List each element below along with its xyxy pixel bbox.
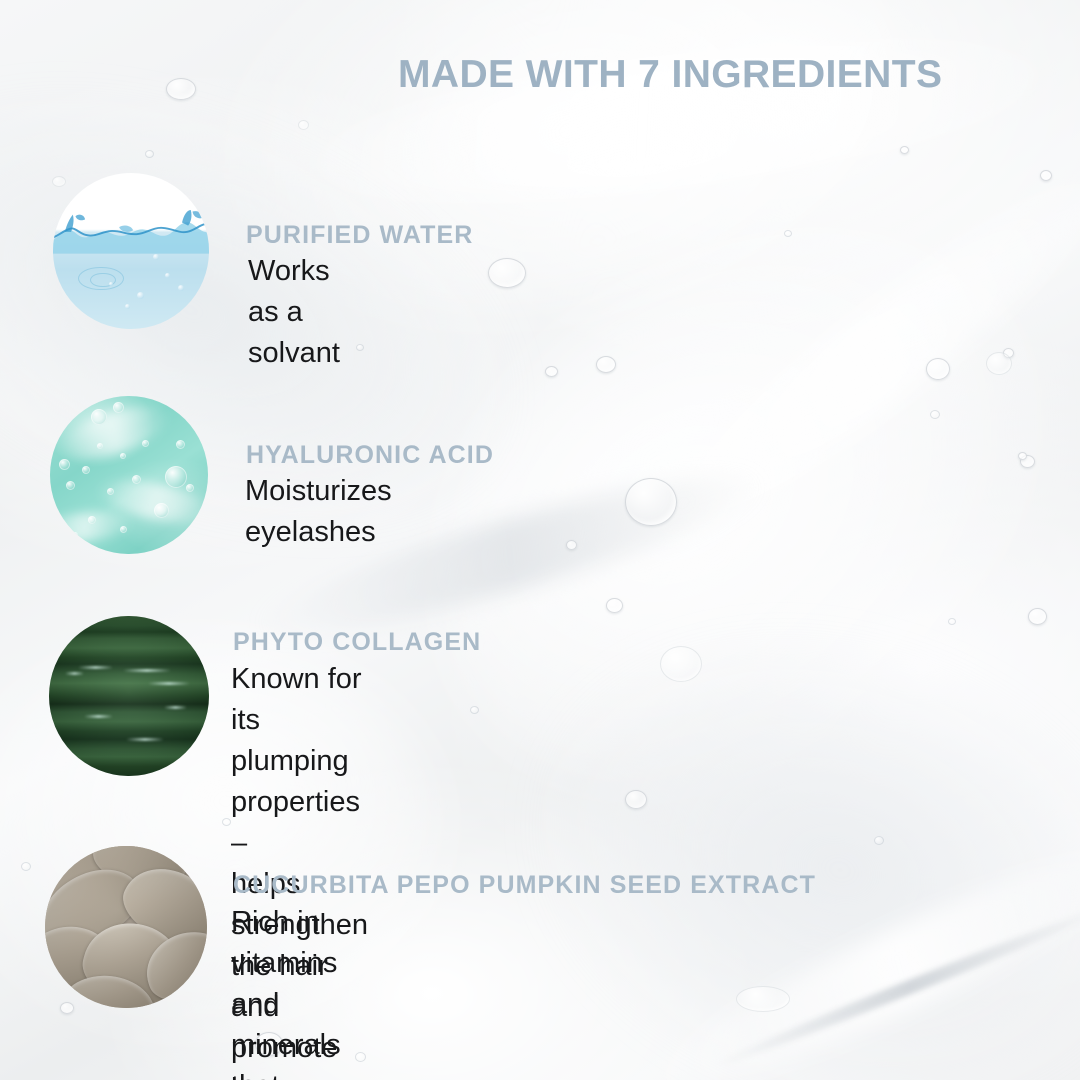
ingredient-name: PHYTO COLLAGEN: [233, 628, 481, 657]
ingredient-name: PURIFIED WATER: [246, 221, 473, 250]
ingredient-description: Moisturizes eyelashes: [245, 471, 392, 553]
gel-bubble: [72, 532, 78, 538]
water-droplet: [153, 254, 159, 260]
water-droplet: [178, 285, 184, 291]
gel-bubble: [91, 409, 107, 425]
purified-water-thumbnail: [53, 173, 209, 329]
water-droplet: [165, 273, 170, 278]
gel-bubble: [88, 516, 96, 524]
seed-vignette: [45, 846, 207, 1008]
gel-bubble: [165, 466, 187, 488]
phyto-collagen-thumbnail: [49, 616, 209, 776]
gel-bubble: [120, 526, 127, 533]
water-splash-icon: [53, 210, 209, 254]
gel-bubble: [120, 453, 126, 459]
page-title: MADE WITH 7 INGREDIENTS: [398, 53, 942, 97]
gel-bubble: [186, 484, 194, 492]
ingredient-name: HYALURONIC ACID: [246, 441, 494, 470]
gel-bubble: [142, 440, 149, 447]
gel-bubble: [176, 440, 185, 449]
ingredient-name: CUCURBITA PEPO PUMPKIN SEED EXTRACT: [233, 871, 816, 900]
gel-bubble: [82, 466, 90, 474]
pumpkin-seed-thumbnail: [45, 846, 207, 1008]
gel-bubble: [59, 459, 70, 470]
gel-bubble: [107, 488, 114, 495]
ingredient-description: Rich in vitamins and minerals that nouri…: [231, 902, 341, 1080]
water-droplet: [137, 292, 144, 299]
ingredients-infographic: MADE WITH 7 INGREDIENTS PURIFIED WATER W…: [0, 0, 1080, 1080]
gel-bubble: [66, 481, 75, 490]
ingredient-description: Works as a solvant: [248, 251, 340, 374]
hyaluronic-acid-thumbnail: [50, 396, 208, 554]
leaf-vignette: [49, 616, 209, 776]
water-droplet: [125, 304, 130, 309]
